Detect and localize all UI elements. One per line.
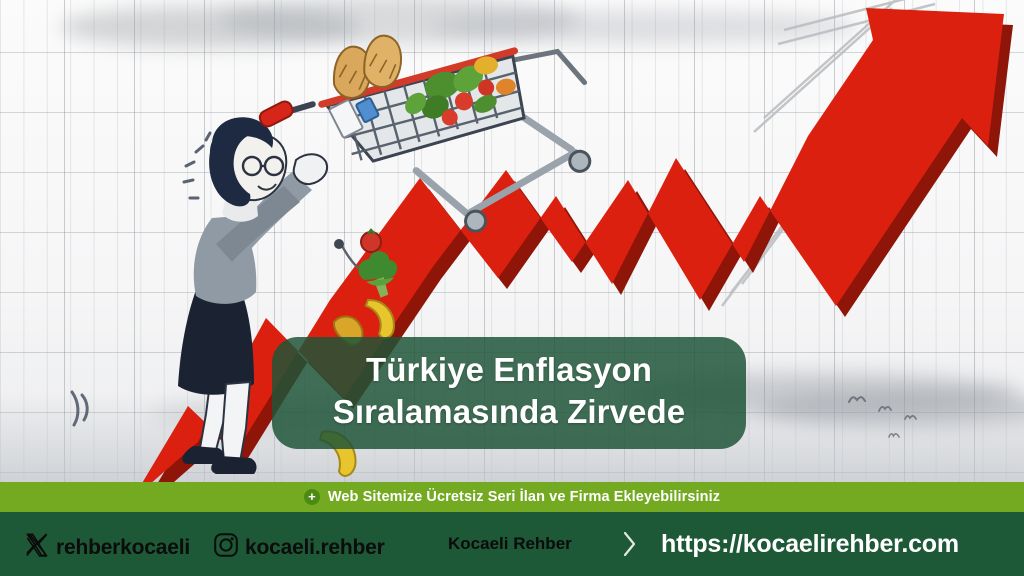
illustration-background: Türkiye Enflasyon Sıralamasında Zirvede: [0, 0, 1024, 512]
x-handle: rehberkocaeli: [56, 536, 190, 560]
brand-name: Kocaeli Rehber: [448, 534, 572, 554]
promo-graphic: Türkiye Enflasyon Sıralamasında Zirvede …: [0, 0, 1024, 576]
plus-icon: +: [304, 489, 320, 505]
title-line-1: Türkiye Enflasyon: [366, 349, 652, 391]
footer-bar: rehberkocaeli kocaeli.rehber Kocaeli Reh…: [0, 512, 1024, 576]
chevron-right-icon: [622, 512, 638, 576]
promo-banner-text: Web Sitemize Ücretsiz Seri İlan ve Firma…: [328, 489, 720, 505]
title-plate: Türkiye Enflasyon Sıralamasında Zirvede: [272, 337, 746, 449]
instagram-handle: kocaeli.rehber: [245, 536, 385, 560]
promo-banner[interactable]: + Web Sitemize Ücretsiz Seri İlan ve Fir…: [0, 482, 1024, 512]
title-line-2: Sıralamasında Zirvede: [333, 391, 685, 433]
x-twitter-icon: [24, 532, 50, 563]
site-url[interactable]: https://kocaelirehber.com: [661, 512, 959, 576]
social-link-x[interactable]: rehberkocaeli: [24, 532, 190, 563]
social-link-instagram[interactable]: kocaeli.rehber: [213, 532, 385, 563]
brand-block[interactable]: Kocaeli Rehber: [448, 512, 572, 576]
instagram-icon: [213, 532, 239, 563]
